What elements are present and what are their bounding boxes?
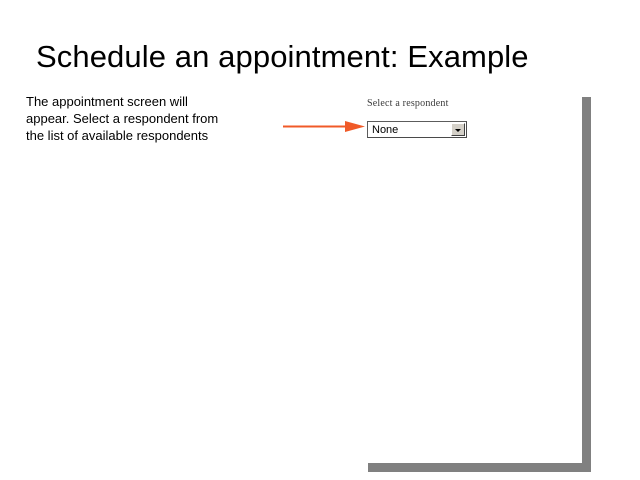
respondent-dropdown[interactable]: None — [367, 121, 467, 138]
arrow-right-icon — [283, 119, 365, 135]
respondent-dropdown-value: None — [372, 124, 398, 136]
dropdown-toggle-button[interactable] — [451, 123, 465, 136]
slide-canvas: Schedule an appointment: Example The app… — [0, 0, 640, 480]
body-text-line: appear. Select a respondent from — [26, 110, 254, 127]
body-text-line: the list of available respondents — [26, 127, 254, 144]
respondent-field-label: Select a respondent — [367, 98, 449, 109]
image-shadow-right — [582, 97, 591, 472]
body-text-line: The appointment screen will — [26, 93, 254, 110]
body-text-block: The appointment screen will appear. Sele… — [26, 93, 254, 144]
chevron-down-icon — [455, 129, 461, 132]
embedded-screenshot: Select a respondent None — [360, 94, 592, 472]
image-shadow-bottom — [368, 463, 591, 472]
page-title: Schedule an appointment: Example — [36, 38, 616, 76]
